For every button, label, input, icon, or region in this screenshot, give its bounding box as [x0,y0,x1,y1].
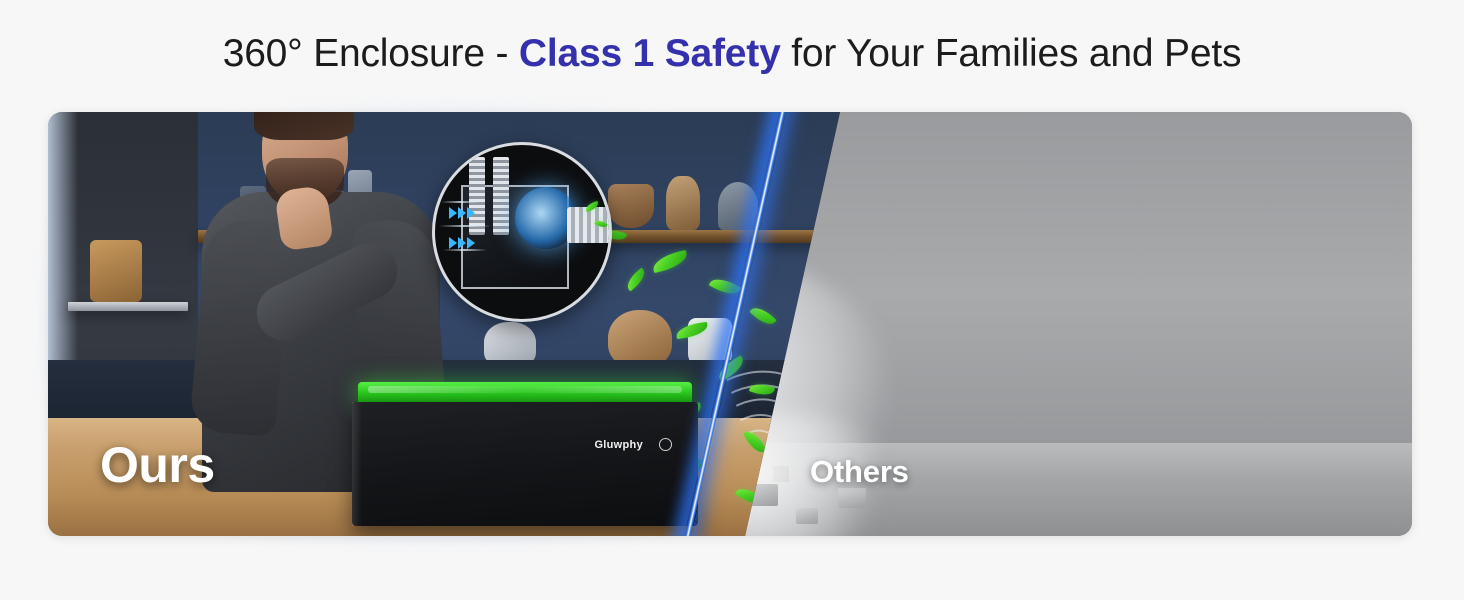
headline-lead: 360° Enclosure - [223,32,519,75]
brand-label: Gluwphy [594,439,643,451]
ours-decor-vase-2 [718,182,758,230]
label-ours: Ours [100,436,215,494]
ours-side-shelf-upper [68,302,188,311]
power-button-icon[interactable] [659,438,672,451]
ours-decor-bowl [608,184,654,228]
page-title: 360° Enclosure - Class 1 Safety for Your… [0,32,1464,76]
inset-filter-panel-2 [493,157,509,235]
air-filtration-cutaway-inset [432,142,612,322]
ours-person-hair [254,112,354,140]
machine-brand-row: Gluwphy [594,438,672,451]
banner-clip: Gluwphy [48,112,1412,536]
ours-decor-basket [90,240,142,302]
ours-laser-machine: Gluwphy [352,382,698,530]
machine-green-lid [358,382,692,404]
ours-decor-vase-1 [666,176,700,230]
machine-body: Gluwphy [352,402,698,526]
headline-trail: for Your Families and Pets [781,32,1242,75]
inset-filter-panel-1 [469,157,485,235]
headline-accent: Class 1 Safety [519,32,781,75]
promo-banner-page: 360° Enclosure - Class 1 Safety for Your… [0,0,1464,600]
comparison-banner: Gluwphy [48,112,1412,536]
label-others: Others [810,454,909,490]
